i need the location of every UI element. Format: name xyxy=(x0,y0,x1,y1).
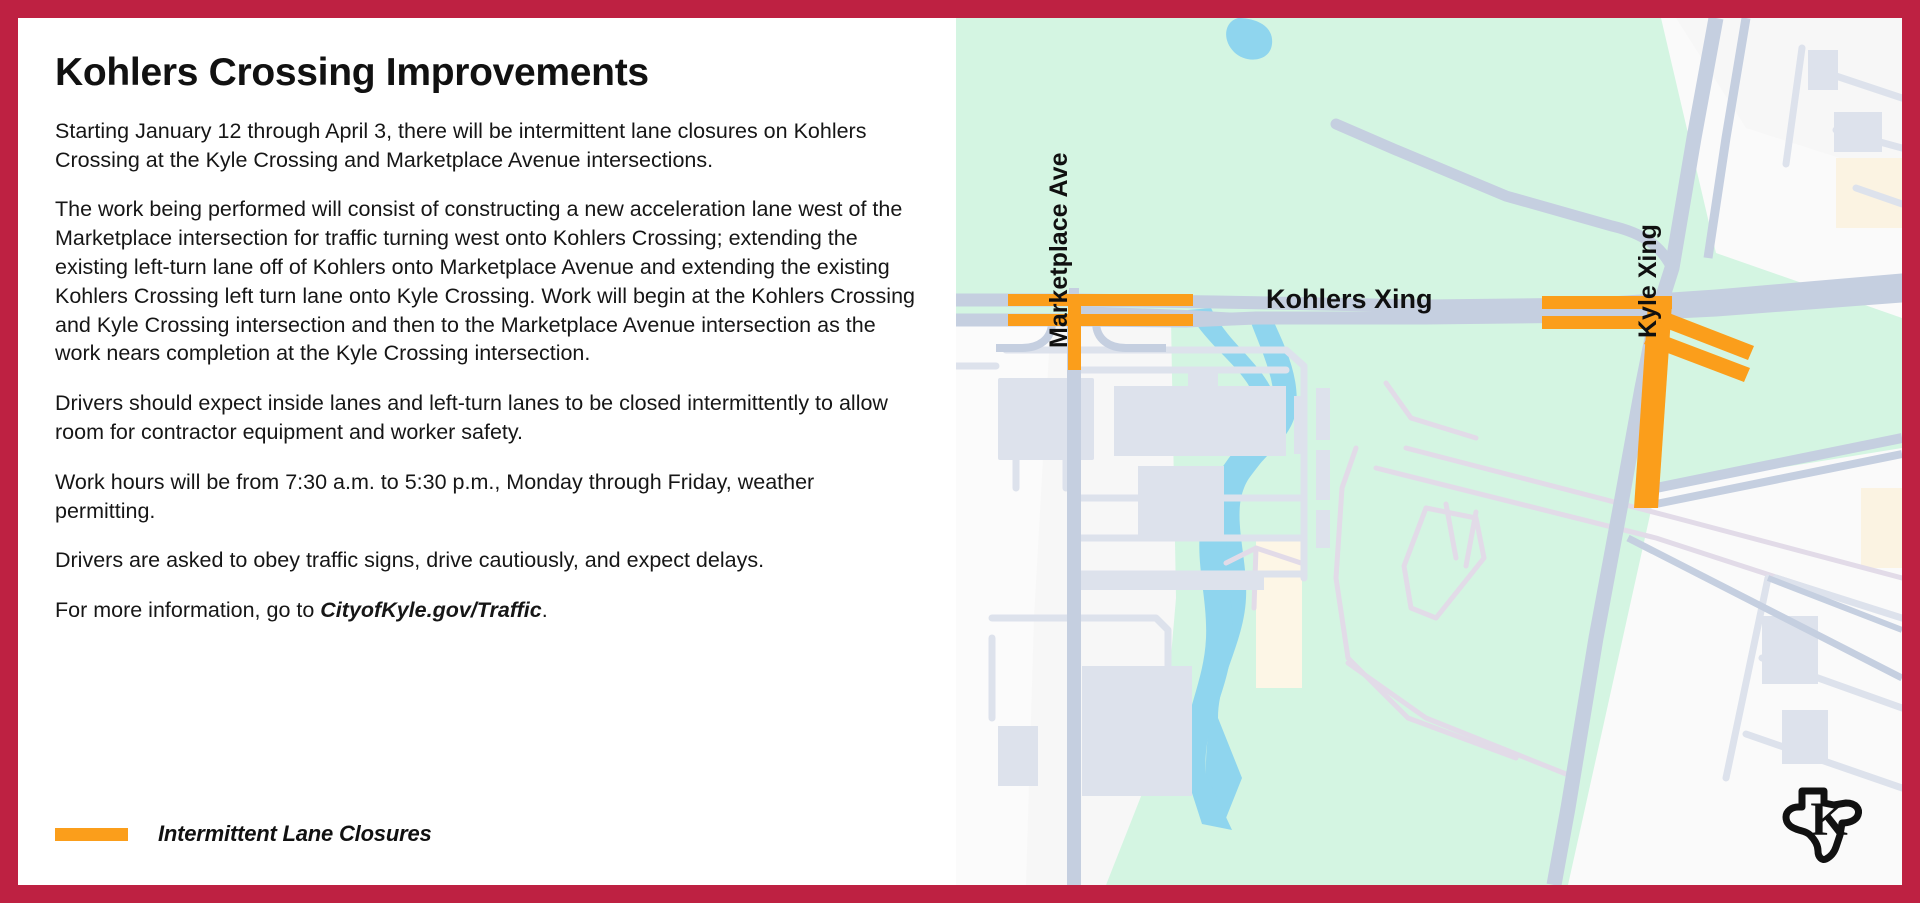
paragraph-schedule: Starting January 12 through April 3, the… xyxy=(55,117,920,175)
legend-swatch-orange xyxy=(55,828,128,841)
logo-letter: K xyxy=(1810,793,1847,846)
map-label-kyle-xing: Kyle Xing xyxy=(1634,224,1663,338)
closure-marketplace-north-bar xyxy=(1008,294,1193,306)
map-label-kohlers-xing: Kohlers Xing xyxy=(1266,284,1433,315)
more-info-suffix: . xyxy=(542,598,548,622)
page-title: Kohlers Crossing Improvements xyxy=(55,52,920,95)
poster-root: Kohlers Crossing Improvements Starting J… xyxy=(0,0,1920,903)
paragraph-driver-advisory: Drivers are asked to obey traffic signs,… xyxy=(55,546,920,575)
closure-marketplace-south-bar xyxy=(1008,314,1193,326)
paragraph-work-scope: The work being performed will consist of… xyxy=(55,195,920,368)
paragraph-driver-expectations: Drivers should expect inside lanes and l… xyxy=(55,389,920,447)
city-of-kyle-texas-logo: K xyxy=(1772,773,1882,883)
poster-inner-frame: Kohlers Crossing Improvements Starting J… xyxy=(18,18,1902,885)
legend-label: Intermittent Lane Closures xyxy=(158,821,432,847)
traffic-website-link[interactable]: CityofKyle.gov/Traffic xyxy=(320,598,541,622)
legend: Intermittent Lane Closures xyxy=(55,821,432,847)
more-info-prefix: For more information, go to xyxy=(55,598,320,622)
paragraph-more-info: For more information, go to CityofKyle.g… xyxy=(55,596,920,625)
paragraph-work-hours: Work hours will be from 7:30 a.m. to 5:3… xyxy=(55,468,920,526)
map-label-marketplace-ave: Marketplace Ave xyxy=(1045,153,1074,348)
info-panel: Kohlers Crossing Improvements Starting J… xyxy=(18,18,956,885)
map-panel[interactable]: Kohlers Xing Marketplace Ave Kyle Xing K xyxy=(956,18,1902,885)
map-graphic xyxy=(956,18,1902,885)
